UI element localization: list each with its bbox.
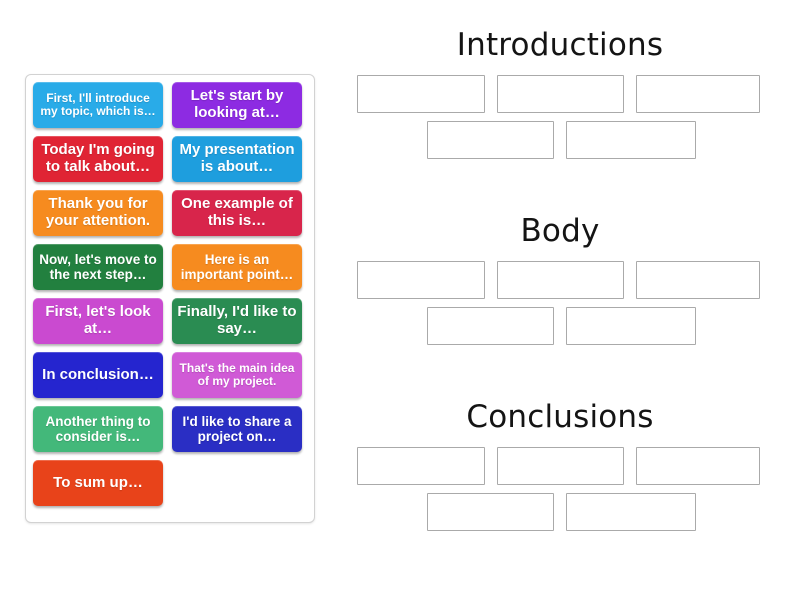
drop-slot[interactable] — [636, 75, 760, 113]
drop-slot-row — [340, 493, 780, 531]
sentence-tile[interactable]: I'd like to share a project on… — [172, 406, 302, 452]
sentence-tile[interactable]: Here is an important point… — [172, 244, 302, 290]
sentence-tile[interactable]: First, I'll introduce my topic, which is… — [33, 82, 163, 128]
drop-slot[interactable] — [427, 307, 554, 345]
sentence-tile[interactable]: Thank you for your attention. — [33, 190, 163, 236]
category-conclusions: Conclusions — [340, 402, 780, 539]
drop-slot[interactable] — [357, 447, 485, 485]
drop-slot[interactable] — [566, 493, 696, 531]
sentence-tile[interactable]: Today I'm going to talk about… — [33, 136, 163, 182]
sentence-tile[interactable]: First, let's look at… — [33, 298, 163, 344]
drop-slot[interactable] — [427, 121, 554, 159]
sentence-tile[interactable]: Finally, I'd like to say… — [172, 298, 302, 344]
sentence-tile[interactable]: Now, let's move to the next step… — [33, 244, 163, 290]
drop-slot[interactable] — [497, 75, 624, 113]
category-introductions: Introductions — [340, 30, 780, 167]
drop-slot[interactable] — [636, 447, 760, 485]
category-title: Introductions — [340, 30, 780, 61]
tile-grid: First, I'll introduce my topic, which is… — [33, 82, 307, 506]
category-body: Body — [340, 216, 780, 353]
drop-slot[interactable] — [427, 493, 554, 531]
drop-slot-row — [340, 75, 780, 113]
category-title: Conclusions — [340, 402, 780, 433]
drop-slot[interactable] — [566, 121, 696, 159]
sentence-tile[interactable]: One example of this is… — [172, 190, 302, 236]
drop-slot[interactable] — [357, 261, 485, 299]
drop-slot[interactable] — [497, 447, 624, 485]
drop-slot-row — [340, 447, 780, 485]
sentence-tile[interactable]: To sum up… — [33, 460, 163, 506]
sentence-tile[interactable]: That's the main idea of my project. — [172, 352, 302, 398]
drop-slot[interactable] — [636, 261, 760, 299]
drop-slot-row — [340, 307, 780, 345]
category-title: Body — [340, 216, 780, 247]
sentence-tile[interactable]: Let's start by looking at… — [172, 82, 302, 128]
activity-canvas: First, I'll introduce my topic, which is… — [0, 0, 800, 600]
drop-slot[interactable] — [357, 75, 485, 113]
drop-slot-row — [340, 261, 780, 299]
drop-slot-row — [340, 121, 780, 159]
sentence-tile[interactable]: My presentation is about… — [172, 136, 302, 182]
tile-tray: First, I'll introduce my topic, which is… — [25, 74, 315, 523]
drop-slot[interactable] — [566, 307, 696, 345]
drop-slot[interactable] — [497, 261, 624, 299]
sentence-tile[interactable]: Another thing to consider is… — [33, 406, 163, 452]
sentence-tile[interactable]: In conclusion… — [33, 352, 163, 398]
